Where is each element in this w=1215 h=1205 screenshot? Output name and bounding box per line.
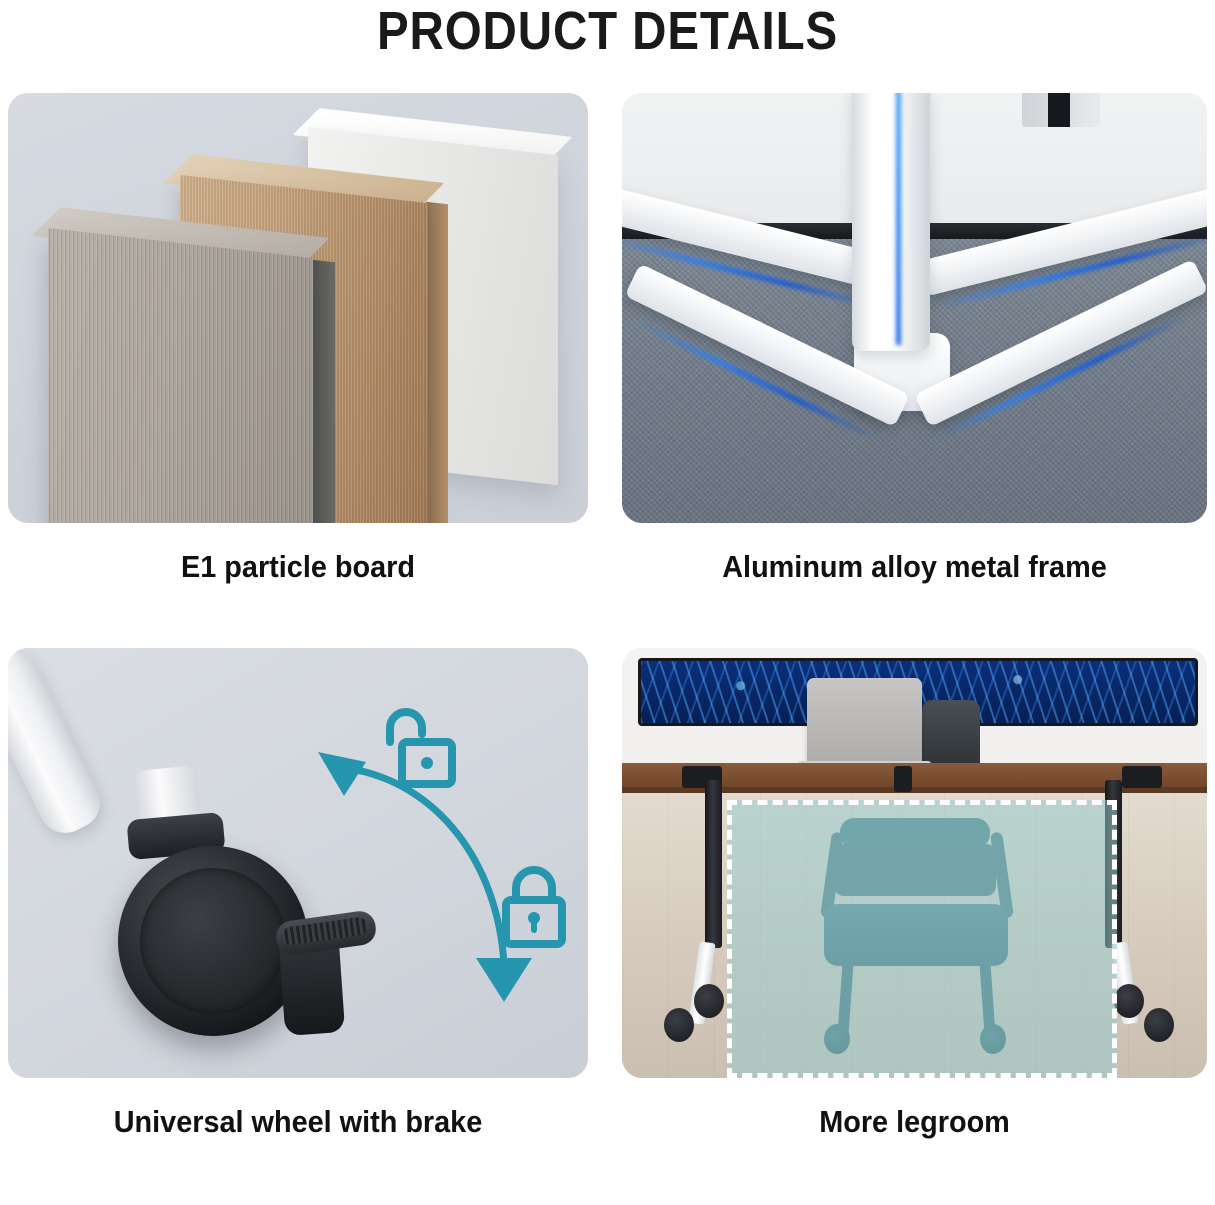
panel-caption-particle-board: E1 particle board <box>28 551 567 584</box>
desk-bracket-center <box>894 766 912 792</box>
desk-caster-front-left <box>664 1008 694 1042</box>
panel-caption-universal-wheel: Universal wheel with brake <box>28 1106 567 1139</box>
panel-particle-board: E1 particle board <box>8 93 588 591</box>
metal-frame-photo <box>622 93 1207 523</box>
frame-column <box>852 93 930 351</box>
panel-caption-metal-frame: Aluminum alloy metal frame <box>642 551 1186 584</box>
unlock-icon <box>380 708 458 794</box>
desk-leg-left <box>705 780 722 948</box>
laptop <box>807 678 922 764</box>
panel-more-legroom: More legroom <box>622 648 1207 1146</box>
desk-caster-front-right <box>1144 1008 1174 1042</box>
gray-board-edge <box>311 260 335 523</box>
desk-caster-back-left <box>694 984 724 1018</box>
oak-board-edge <box>426 202 448 523</box>
lock-icon <box>498 866 570 950</box>
blue-accent-column <box>896 93 901 345</box>
product-details-grid: E1 particle board Aluminum alloy metal f… <box>0 86 1215 1205</box>
particle-board-photo <box>8 93 588 523</box>
universal-wheel-photo <box>8 648 588 1078</box>
panel-metal-frame: Aluminum alloy metal frame <box>622 93 1207 591</box>
page-title: PRODUCT DETAILS <box>73 0 1142 58</box>
wall-fixture <box>1022 93 1100 127</box>
desk-bracket-right <box>1122 766 1162 788</box>
more-legroom-photo <box>622 648 1207 1078</box>
gray-board <box>48 228 313 523</box>
panel-caption-more-legroom: More legroom <box>642 1106 1186 1139</box>
legroom-highlight-area <box>727 800 1117 1078</box>
desk-caster-back-right <box>1114 984 1144 1018</box>
chair-headrest <box>922 700 980 772</box>
panel-universal-wheel: Universal wheel with brake <box>8 648 588 1146</box>
